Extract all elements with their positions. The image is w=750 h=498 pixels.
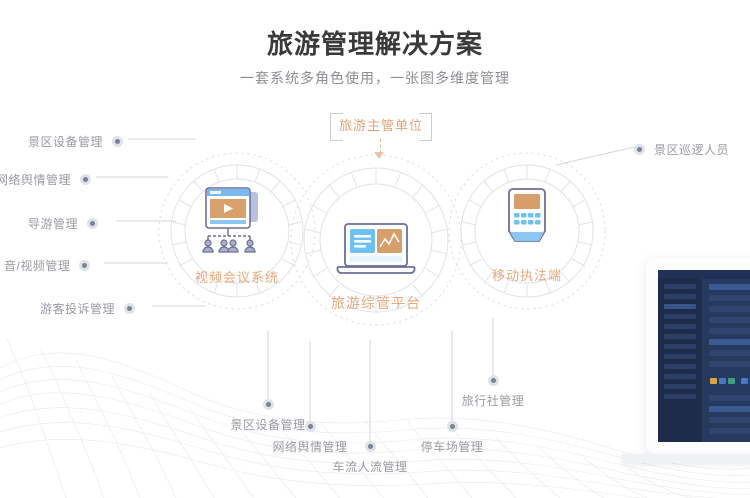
- mockup-sidebar: [658, 270, 702, 442]
- node-label: 景区设备管理: [28, 133, 103, 150]
- hub-label-mobile-enforcement: 移动执法端: [482, 265, 572, 284]
- node-dot-icon: [365, 441, 376, 452]
- node-label: 音/视频管理: [4, 257, 70, 274]
- node-dot-icon: [305, 421, 316, 432]
- hub-platform[interactable]: 旅游综管平台: [330, 222, 422, 313]
- node-label: 旅行社管理: [462, 392, 525, 409]
- node-left-1[interactable]: 网络舆情管理: [0, 171, 91, 188]
- node-dot-icon: [112, 136, 123, 147]
- node-left-2[interactable]: 导游管理: [28, 215, 98, 232]
- node-dot-icon: [87, 218, 98, 229]
- node-dot-icon: [634, 144, 645, 155]
- product-screenshot-laptop: [646, 258, 750, 463]
- node-label: 停车场管理: [421, 438, 484, 455]
- node-left-4[interactable]: 游客投诉管理: [40, 300, 135, 317]
- node-label: 景区巡逻人员: [654, 141, 729, 158]
- page-subtitle: 一套系统多角色使用，一张图多维度管理: [0, 68, 750, 88]
- node-dot-icon: [80, 174, 91, 185]
- authority-badge-group: 旅游主管单位: [330, 113, 432, 139]
- badge-arrow-icon: [374, 152, 384, 159]
- authority-badge[interactable]: 旅游主管单位: [330, 113, 432, 139]
- node-label: 车流人流管理: [332, 458, 407, 475]
- hub-video-conference[interactable]: 视频会议系统: [177, 186, 297, 286]
- node-right-0[interactable]: 景区巡逻人员: [634, 141, 729, 158]
- node-bottom-4[interactable]: 旅行社管理: [448, 375, 538, 409]
- dashboard-mockup: [658, 270, 750, 442]
- hub-mobile-enforcement[interactable]: 移动执法端: [482, 186, 572, 284]
- mockup-content: [702, 270, 750, 442]
- laptop-bezel: [646, 258, 750, 454]
- solution-diagram-page: 旅游管理解决方案 一套系统多角色使用，一张图多维度管理 旅游主管单位: [0, 0, 750, 498]
- page-title: 旅游管理解决方案: [0, 24, 750, 61]
- node-label: 导游管理: [28, 215, 78, 232]
- node-bottom-3[interactable]: 停车场管理: [407, 421, 497, 455]
- node-left-3[interactable]: 音/视频管理: [4, 257, 90, 274]
- node-dot-icon: [447, 421, 458, 432]
- node-dot-icon: [124, 303, 135, 314]
- hub-label-platform: 旅游综管平台: [330, 293, 422, 313]
- node-label: 网络舆情管理: [0, 171, 71, 188]
- node-dot-icon: [488, 375, 499, 386]
- node-dot-icon: [79, 260, 90, 271]
- node-dot-icon: [263, 399, 274, 410]
- node-left-0[interactable]: 景区设备管理: [28, 133, 123, 150]
- hub-label-video-conference: 视频会议系统: [177, 267, 297, 286]
- badge-dashed-line: [380, 139, 381, 153]
- node-bottom-2[interactable]: 车流人流管理: [325, 441, 415, 475]
- handheld-device-icon: [499, 186, 555, 252]
- laptop-icon: [330, 222, 422, 280]
- video-window-icon: [194, 186, 280, 254]
- laptop-base: [622, 454, 750, 463]
- node-label: 游客投诉管理: [40, 300, 115, 317]
